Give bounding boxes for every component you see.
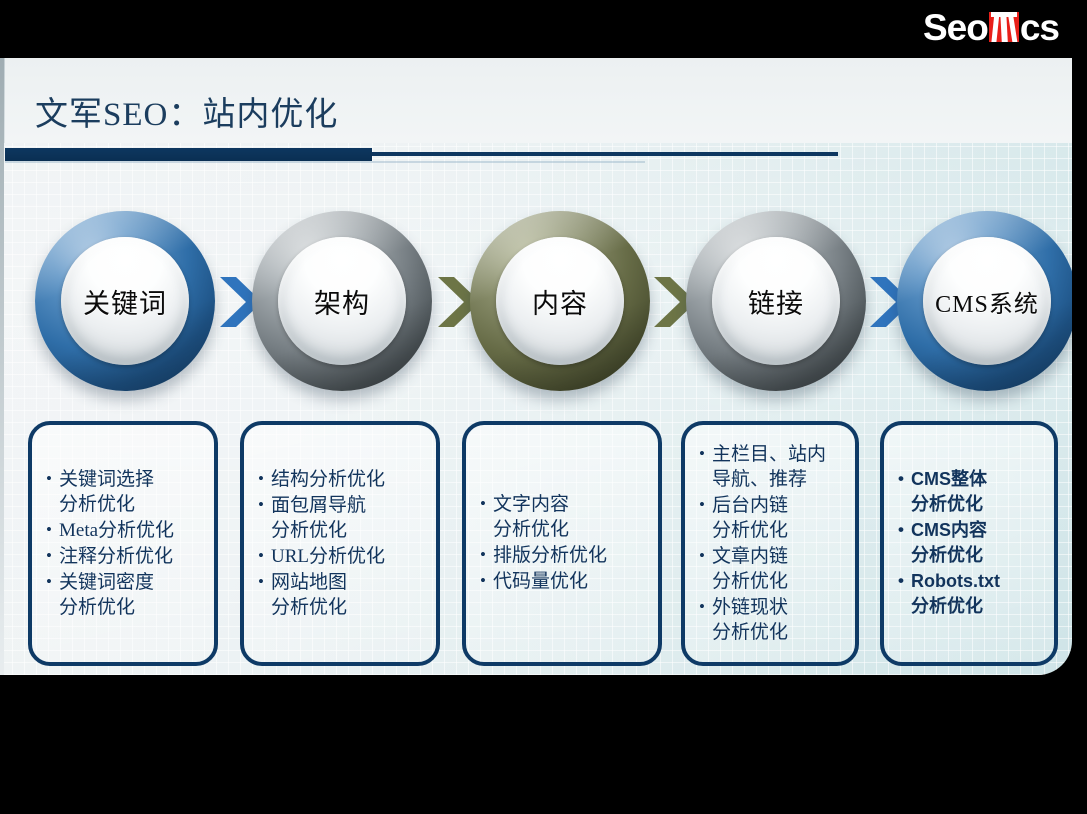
title-rule-thick xyxy=(5,148,372,161)
detail-list-item: 结构分析优化 xyxy=(258,467,428,492)
title-rule-underline xyxy=(5,161,645,163)
detail-list-item: 主栏目、站内 导航、推荐 xyxy=(699,442,847,492)
detail-list-item: 关键词选择 分析优化 xyxy=(46,467,206,517)
detail-box-keywords[interactable]: 关键词选择 分析优化Meta分析优化注释分析优化关键词密度 分析优化 xyxy=(28,421,218,666)
detail-list: 主栏目、站内 导航、推荐后台内链 分析优化文章内链 分析优化外链现状 分析优化 xyxy=(685,442,855,646)
detail-list-item: 后台内链 分析优化 xyxy=(699,493,847,543)
detail-list-item: 面包屑导航 分析优化 xyxy=(258,493,428,543)
detail-list-item: 关键词密度 分析优化 xyxy=(46,570,206,620)
node-label: 架构 xyxy=(314,282,370,321)
process-node-architecture[interactable]: 架构 xyxy=(252,211,432,391)
node-label: 内容 xyxy=(532,282,588,321)
detail-list: 关键词选择 分析优化Meta分析优化注释分析优化关键词密度 分析优化 xyxy=(32,467,214,621)
brand-mark-icon xyxy=(989,12,1019,42)
node-inner-disc: 内容 xyxy=(496,237,624,365)
brand-word-right: cs xyxy=(1020,9,1059,46)
detail-list-item: 注释分析优化 xyxy=(46,544,206,569)
detail-list-item: 网站地图 分析优化 xyxy=(258,570,428,620)
node-label: CMS系统 xyxy=(935,284,1039,319)
detail-box-links[interactable]: 主栏目、站内 导航、推荐后台内链 分析优化文章内链 分析优化外链现状 分析优化 xyxy=(681,421,859,666)
detail-list-item: CMS内容 分析优化 xyxy=(898,518,1046,568)
detail-list-item: 文章内链 分析优化 xyxy=(699,544,847,594)
brand-word-left: Seo xyxy=(923,9,988,46)
slide-surface: 文军SEO：站内优化 关键词 架构 xyxy=(0,15,1072,675)
node-inner-disc: 链接 xyxy=(712,237,840,365)
page-title: 文军SEO：站内优化 xyxy=(35,87,338,135)
detail-list: 结构分析优化面包屑导航 分析优化URL分析优化网站地图 分析优化 xyxy=(244,467,436,621)
detail-list-item: 代码量优化 xyxy=(480,569,650,594)
detail-list-item: 文字内容 分析优化 xyxy=(480,492,650,542)
bottom-black-band xyxy=(0,675,1087,814)
detail-box-row: 关键词选择 分析优化Meta分析优化注释分析优化关键词密度 分析优化 结构分析优… xyxy=(0,421,1072,671)
detail-box-cms[interactable]: CMS整体 分析优化CMS内容 分析优化Robots.txt 分析优化 xyxy=(880,421,1058,666)
process-node-cms[interactable]: CMS系统 xyxy=(897,211,1072,391)
node-inner-disc: CMS系统 xyxy=(923,237,1051,365)
title-rule-thin xyxy=(372,152,838,156)
detail-list-item: 排版分析优化 xyxy=(480,543,650,568)
process-flow: 关键词 架构 内容 xyxy=(0,211,1072,411)
process-node-links[interactable]: 链接 xyxy=(686,211,866,391)
detail-list-item: Robots.txt 分析优化 xyxy=(898,569,1046,619)
detail-box-architecture[interactable]: 结构分析优化面包屑导航 分析优化URL分析优化网站地图 分析优化 xyxy=(240,421,440,666)
detail-box-content[interactable]: 文字内容 分析优化排版分析优化代码量优化 xyxy=(462,421,662,666)
detail-list-item: Meta分析优化 xyxy=(46,518,206,543)
slide-left-edge xyxy=(0,15,4,675)
detail-list: 文字内容 分析优化排版分析优化代码量优化 xyxy=(466,492,658,595)
node-label: 链接 xyxy=(748,282,804,321)
slide-frame: 文军SEO：站内优化 关键词 架构 xyxy=(0,0,1087,814)
right-black-band xyxy=(1072,0,1087,814)
detail-list-item: CMS整体 分析优化 xyxy=(898,467,1046,517)
brand-logo: Seo cs xyxy=(923,4,1059,50)
node-inner-disc: 架构 xyxy=(278,237,406,365)
node-inner-disc: 关键词 xyxy=(61,237,189,365)
process-node-content[interactable]: 内容 xyxy=(470,211,650,391)
detail-list-item: URL分析优化 xyxy=(258,544,428,569)
top-black-band: Seo cs xyxy=(0,0,1087,58)
process-node-keywords[interactable]: 关键词 xyxy=(35,211,215,391)
detail-list-item: 外链现状 分析优化 xyxy=(699,595,847,645)
detail-list: CMS整体 分析优化CMS内容 分析优化Robots.txt 分析优化 xyxy=(884,467,1054,620)
node-label: 关键词 xyxy=(83,282,167,321)
